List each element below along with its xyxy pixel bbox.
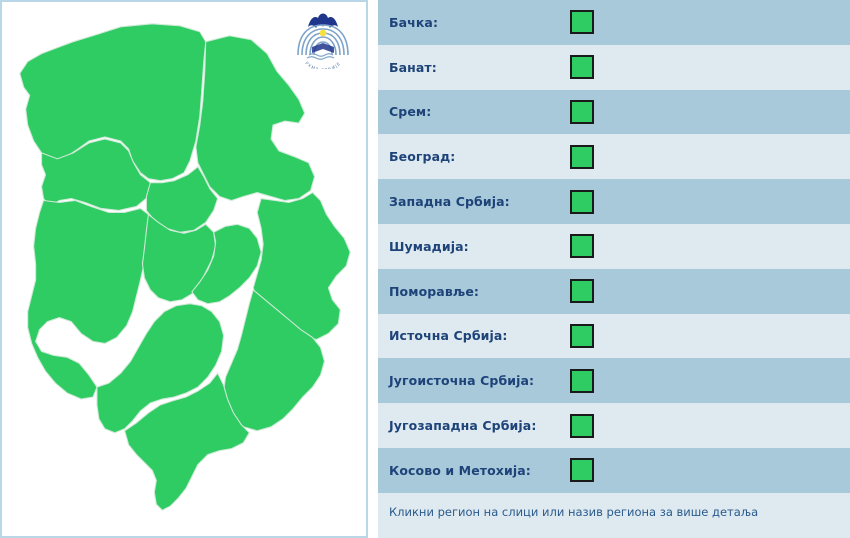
list-item[interactable]: Шумадија: [378, 224, 850, 269]
status-cell [560, 279, 604, 303]
list-item[interactable]: Југоисточна Србија: [378, 358, 850, 403]
status-cell [560, 234, 604, 258]
row-filler [604, 0, 850, 45]
status-swatch-kosovo-i-metohija[interactable] [570, 458, 594, 482]
region-label-jugozapadna-srbija[interactable]: Југозападна Србија: [378, 418, 560, 433]
row-filler [604, 448, 850, 493]
status-cell [560, 55, 604, 79]
rhmz-logo: РХМЗ СРБИЈЕ [292, 7, 354, 69]
map-panel: РХМЗ СРБИЈЕ [0, 0, 368, 538]
status-swatch-zapadna-srbija[interactable] [570, 190, 594, 214]
region-label-beograd[interactable]: Београд: [378, 149, 560, 164]
region-label-backa[interactable]: Бачка: [378, 15, 560, 30]
status-swatch-srem[interactable] [570, 100, 594, 124]
logo-arcs [298, 25, 348, 55]
status-swatch-pomoravlje[interactable] [570, 279, 594, 303]
status-cell [560, 145, 604, 169]
row-filler [604, 90, 850, 135]
region-label-sumadija[interactable]: Шумадија: [378, 239, 560, 254]
serbia-map-svg [2, 2, 366, 536]
logo-crown [308, 14, 338, 29]
logo-sun [320, 30, 327, 37]
region-warning-list: Бачка: Банат: Срем: Београд: [378, 0, 850, 538]
status-swatch-backa[interactable] [570, 10, 594, 34]
row-filler [604, 224, 850, 269]
logo-book [312, 43, 334, 53]
logo-caption: РХМЗ СРБИЈЕ [304, 60, 342, 69]
status-swatch-beograd[interactable] [570, 145, 594, 169]
row-filler [604, 314, 850, 359]
row-filler [604, 358, 850, 403]
list-item[interactable]: Југозападна Србија: [378, 403, 850, 448]
serbia-map[interactable]: РХМЗ СРБИЈЕ [2, 2, 366, 536]
footer-hint-text: Кликни регион на слици или назив региона… [378, 505, 758, 519]
status-swatch-istocna-srbija[interactable] [570, 324, 594, 348]
row-filler [604, 403, 850, 448]
status-cell [560, 10, 604, 34]
row-filler [604, 179, 850, 224]
status-swatch-jugoistocna-srbija[interactable] [570, 369, 594, 393]
warning-map-page: РХМЗ СРБИЈЕ Бачка: Банат: Срем: [0, 0, 850, 538]
region-label-kosovo-i-metohija[interactable]: Косово и Метохија: [378, 463, 560, 478]
region-label-zapadna-srbija[interactable]: Западна Србија: [378, 194, 560, 209]
list-item[interactable]: Косово и Метохија: [378, 448, 850, 493]
status-swatch-banat[interactable] [570, 55, 594, 79]
list-item[interactable]: Београд: [378, 134, 850, 179]
region-label-jugoistocna-srbija[interactable]: Југоисточна Србија: [378, 373, 560, 388]
list-item[interactable]: Источна Србија: [378, 314, 850, 359]
list-item[interactable]: Срем: [378, 90, 850, 135]
legend-footer: Кликни регион на слици или назив региона… [378, 493, 850, 538]
status-swatch-sumadija[interactable] [570, 234, 594, 258]
status-cell [560, 100, 604, 124]
panel-gutter [368, 0, 378, 538]
logo-waves [307, 54, 334, 60]
list-item[interactable]: Поморавље: [378, 269, 850, 314]
status-swatch-jugozapadna-srbija[interactable] [570, 414, 594, 438]
list-item[interactable]: Западна Србија: [378, 179, 850, 224]
list-item[interactable]: Банат: [378, 45, 850, 90]
region-label-banat[interactable]: Банат: [378, 60, 560, 75]
region-label-pomoravlje[interactable]: Поморавље: [378, 284, 560, 299]
status-cell [560, 369, 604, 393]
rhmz-logo-svg: РХМЗ СРБИЈЕ [292, 7, 354, 69]
list-item[interactable]: Бачка: [378, 0, 850, 45]
region-label-istocna-srbija[interactable]: Источна Србија: [378, 328, 560, 343]
row-filler [604, 45, 850, 90]
row-filler [604, 134, 850, 179]
status-cell [560, 414, 604, 438]
status-cell [560, 324, 604, 348]
status-cell [560, 458, 604, 482]
status-cell [560, 190, 604, 214]
region-label-srem[interactable]: Срем: [378, 104, 560, 119]
row-filler [604, 269, 850, 314]
